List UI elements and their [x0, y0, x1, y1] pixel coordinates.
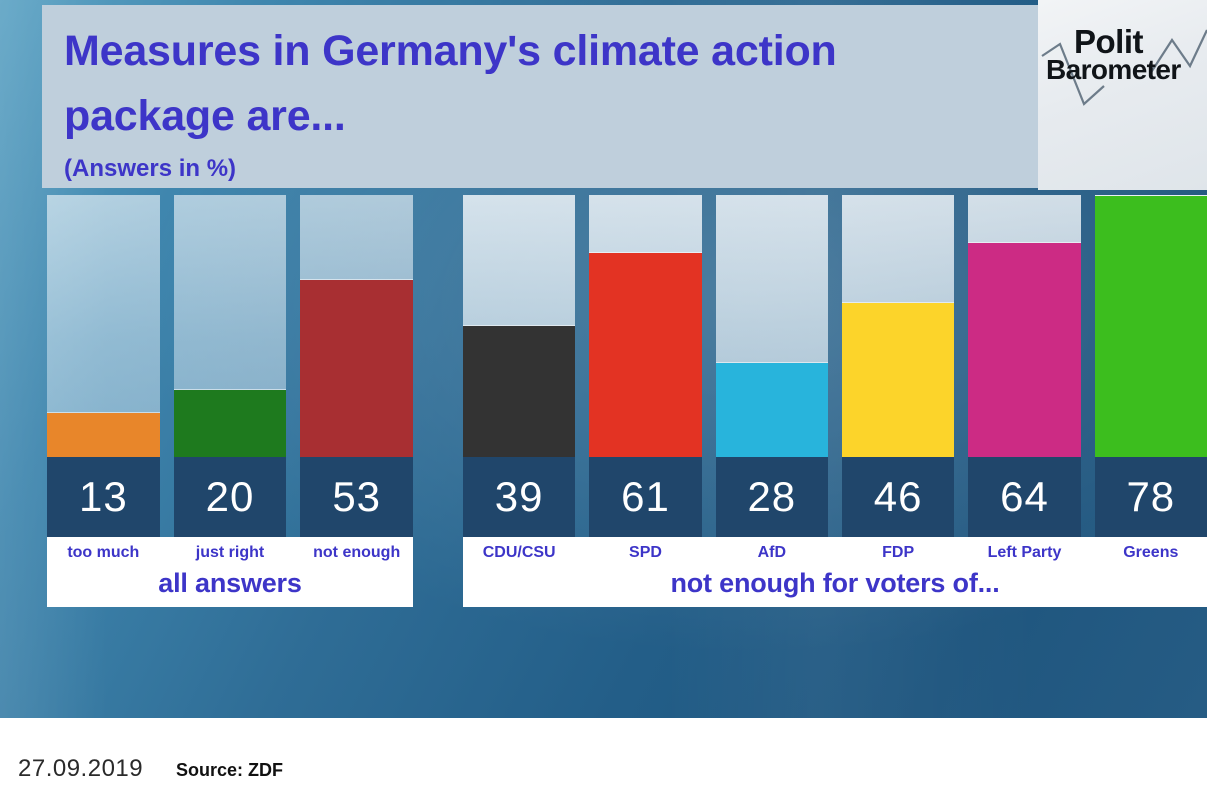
bar-value-party-3: 46: [842, 457, 954, 537]
category-row-left: too muchjust rightnot enough: [47, 543, 413, 562]
bar-value-party-5: 78: [1095, 457, 1207, 537]
chart-group-all-answers: 132053 too muchjust rightnot enough all …: [47, 195, 413, 607]
value-band-left: 132053: [47, 457, 413, 537]
bar-value-party-0: 39: [463, 457, 575, 537]
bar-value-party-4: 64: [968, 457, 1080, 537]
label-box-left: too muchjust rightnot enough all answers: [47, 537, 413, 607]
plot-area-left: [47, 195, 413, 457]
bar-column-party-3: [842, 195, 954, 457]
category-label-all-2: not enough: [300, 543, 413, 562]
bar-value-party-2: 28: [716, 457, 828, 537]
bar-party-5: [1095, 196, 1207, 457]
bar-all-2: [300, 280, 413, 457]
category-label-party-0: CDU/CSU: [463, 543, 575, 562]
footer-source: Source: ZDF: [176, 760, 283, 781]
bar-column-party-1: [589, 195, 701, 457]
bar-column-all-0: [47, 195, 160, 457]
title-subtitle: (Answers in %): [64, 156, 1038, 182]
plot-area-right: [463, 195, 1207, 457]
bar-value-party-1: 61: [589, 457, 701, 537]
category-label-party-4: Left Party: [968, 543, 1080, 562]
category-label-party-1: SPD: [589, 543, 701, 562]
label-box-right: CDU/CSUSPDAfDFDPLeft PartyGreens not eno…: [463, 537, 1207, 607]
bar-party-3: [842, 303, 954, 457]
bar-value-all-2: 53: [300, 457, 413, 537]
category-row-right: CDU/CSUSPDAfDFDPLeft PartyGreens: [463, 543, 1207, 562]
logo-text: Polit Barometer: [1046, 26, 1207, 83]
group-label-left: all answers: [47, 568, 413, 599]
bar-column-all-1: [174, 195, 287, 457]
infographic-root: Measures in Germany's climate action pac…: [0, 0, 1207, 800]
bar-party-0: [463, 326, 575, 457]
bar-column-party-4: [968, 195, 1080, 457]
group-label-right: not enough for voters of...: [463, 568, 1207, 599]
title-banner: Measures in Germany's climate action pac…: [42, 5, 1038, 188]
bar-column-party-5: [1095, 195, 1207, 457]
bar-column-party-2: [716, 195, 828, 457]
bar-value-all-0: 13: [47, 457, 160, 537]
bar-all-0: [47, 413, 160, 457]
bar-party-1: [589, 253, 701, 457]
bar-value-all-1: 20: [174, 457, 287, 537]
bar-party-4: [968, 243, 1080, 457]
category-label-all-0: too much: [47, 543, 160, 562]
bar-column-all-2: [300, 195, 413, 457]
bar-column-party-0: [463, 195, 575, 457]
politbarometer-logo: Polit Barometer: [1038, 0, 1207, 190]
logo-line-2: Barometer: [1046, 57, 1207, 83]
logo-line-1: Polit: [1046, 26, 1207, 57]
chart-group-voters: 396128466478 CDU/CSUSPDAfDFDPLeft PartyG…: [463, 195, 1207, 607]
bar-all-1: [174, 390, 287, 457]
value-band-right: 396128466478: [463, 457, 1207, 537]
category-label-party-5: Greens: [1095, 543, 1207, 562]
category-label-party-3: FDP: [842, 543, 954, 562]
page-title: Measures in Germany's climate action pac…: [64, 19, 964, 150]
footer-date: 27.09.2019: [18, 755, 143, 783]
category-label-all-1: just right: [174, 543, 287, 562]
category-label-party-2: AfD: [716, 543, 828, 562]
footer: 27.09.2019 Source: ZDF: [0, 718, 1207, 800]
bar-party-2: [716, 363, 828, 457]
